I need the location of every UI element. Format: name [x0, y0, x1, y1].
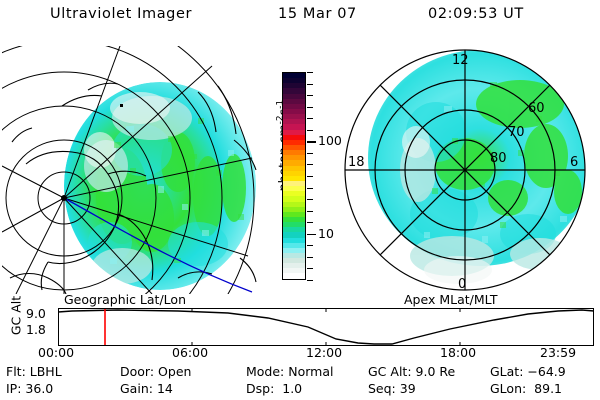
colorbar-tick-3 [307, 107, 313, 108]
colorbar-tick-7 [307, 153, 313, 154]
aurora-emission-mlt [368, 50, 592, 284]
header-bar: Ultraviolet Imager 15 Mar 07 02:09:53 UT [0, 6, 600, 32]
time-tick-2: 12:00 [306, 345, 342, 360]
orbit-trace-svg [58, 308, 594, 346]
mlt-plot-svg: 12 6 0 18 60 70 80 [332, 46, 598, 294]
status-ip: IP: 36.0 [6, 381, 53, 396]
colorbar-tick-8 [307, 164, 313, 165]
orbit-plot-frame [59, 309, 594, 346]
observation-time: 02:09:53 UT [428, 6, 524, 22]
status-gcalt: GC Alt: 9.0 Re [368, 364, 455, 379]
colorbar-tick-14 [307, 234, 316, 236]
time-tick-3: 18:00 [440, 345, 476, 360]
colorbar-group: photon cm-2s-1 100 10 [262, 60, 332, 295]
status-glat: GLat: −64.9 [490, 364, 566, 379]
colorbar-tick-5 [307, 130, 313, 131]
mlat-label-80: 80 [490, 151, 507, 166]
time-tick-4: 23:59 [540, 345, 576, 360]
observation-date: 15 Mar 07 [278, 6, 357, 22]
orbit-altitude-curve [58, 310, 594, 344]
mlat-label-70: 70 [508, 125, 525, 140]
status-footer: Flt: LBHL Door: Open Mode: Normal GC Alt… [0, 364, 600, 398]
mlt-dial-panel[interactable]: 12 6 0 18 60 70 80 [332, 46, 598, 294]
time-tick-1: 06:00 [172, 345, 208, 360]
colorbar-tick-1 [307, 84, 313, 85]
geographic-image-panel[interactable] [2, 46, 262, 294]
mlt-label-0: 0 [458, 277, 466, 292]
aurora-emission-geo [64, 82, 256, 290]
mlt-panel-subtitle: Apex MLat/MLT [404, 292, 498, 307]
mlt-dial-grid [345, 50, 585, 290]
status-seq: Seq: 39 [368, 381, 416, 396]
mlt-label-6: 6 [570, 155, 578, 170]
colorbar-tick-17 [307, 268, 313, 269]
star-marker [120, 104, 123, 107]
colorbar-tick-13 [307, 222, 313, 223]
orbit-y-axis-label: GC Alt [9, 290, 24, 342]
colorbar-tick-10 [307, 188, 313, 189]
colorbar-tick-0 [307, 72, 313, 73]
geographic-plot-svg [2, 46, 262, 294]
status-glon: GLon: 89.1 [490, 381, 562, 396]
colorbar-tick-11 [307, 199, 313, 200]
geographic-panel-subtitle: Geographic Lat/Lon [64, 292, 186, 307]
colorbar-tick-16 [307, 257, 313, 258]
orbit-alt-max: 9.0 [26, 306, 46, 321]
mlt-label-12: 12 [452, 53, 469, 68]
colorbar-tick-6 [307, 141, 316, 143]
instrument-title: Ultraviolet Imager [50, 6, 192, 22]
status-door: Door: Open [120, 364, 191, 379]
time-tick-0: 00:00 [38, 345, 74, 360]
status-mode: Mode: Normal [246, 364, 334, 379]
mlat-label-60: 60 [528, 101, 545, 116]
colorbar-tick-12 [307, 211, 313, 212]
mlt-label-18: 18 [348, 155, 365, 170]
colorbar-tick-2 [307, 95, 313, 96]
colorbar-tick-4 [307, 118, 313, 119]
colorbar-tick-9 [307, 176, 313, 177]
colorbar-band-39 [283, 273, 305, 278]
colorbar-gradient [282, 72, 306, 280]
orbit-altitude-panel[interactable]: Geographic Lat/Lon Apex MLat/MLT GC Alt … [0, 292, 600, 350]
status-gain: Gain: 14 [120, 381, 173, 396]
time-axis: 00:00 06:00 12:00 18:00 23:59 [0, 345, 600, 361]
colorbar-tick-18 [307, 280, 313, 281]
orbit-alt-min: 1.8 [26, 322, 46, 337]
status-flt: Flt: LBHL [6, 364, 62, 379]
colorbar-tick-15 [307, 245, 313, 246]
subsatellite-point [61, 195, 67, 201]
status-dsp: Dsp: 1.0 [246, 381, 302, 396]
